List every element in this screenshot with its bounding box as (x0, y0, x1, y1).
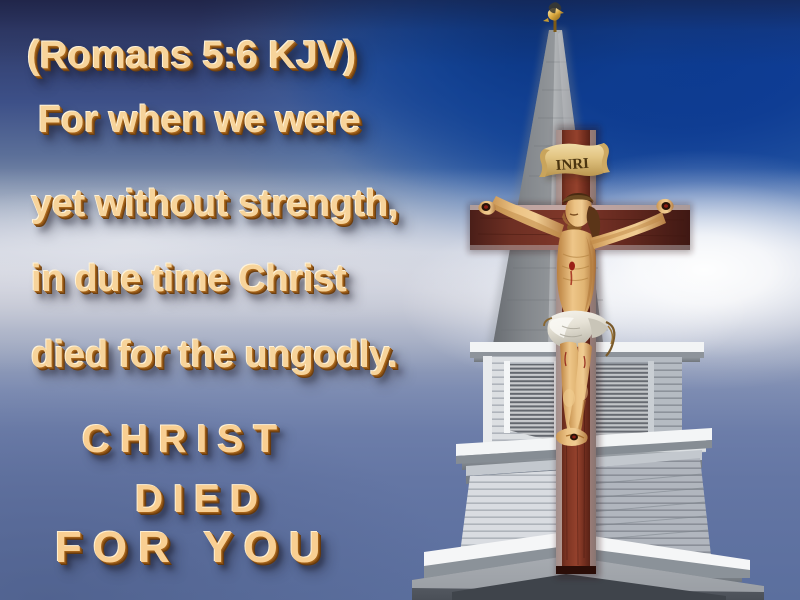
scripture-slide: INRI (0, 0, 800, 600)
scripture-reference: (Romans 5:6 KJV) (27, 34, 356, 78)
verse-line-3: in due time Christ (31, 258, 347, 301)
headline-line-1: CHRIST (82, 418, 287, 462)
verse-line-1: For when we were (38, 99, 361, 142)
headline-line-2: DIED (135, 478, 268, 522)
verse-line-4: died for the ungodly. (31, 334, 398, 377)
finial-icon (543, 2, 564, 32)
headline-line-3: FOR YOU (55, 523, 332, 573)
inri-placard: INRI (539, 143, 610, 181)
verse-line-2: yet without strength, (31, 183, 398, 226)
inri-text: INRI (555, 156, 590, 174)
